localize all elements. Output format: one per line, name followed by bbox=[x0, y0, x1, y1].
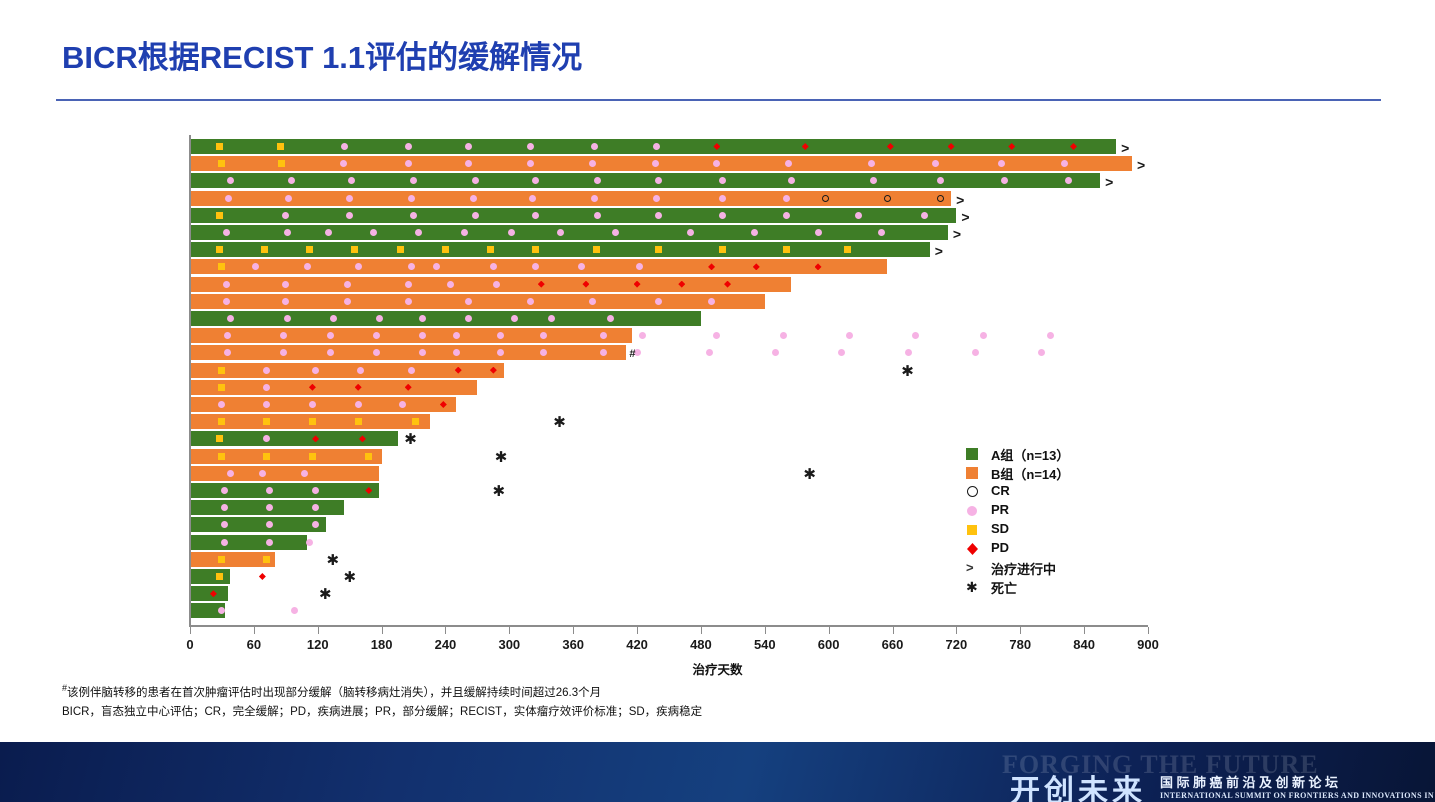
death-icon: ✱ bbox=[803, 467, 816, 482]
swimmer-bar bbox=[190, 328, 632, 343]
marker-sd-icon bbox=[218, 263, 225, 270]
x-axis-tick-label: 720 bbox=[946, 637, 968, 652]
ongoing-treatment-icon: > bbox=[956, 193, 964, 207]
marker-sd-icon bbox=[442, 246, 449, 253]
marker-sd-icon bbox=[216, 246, 223, 253]
marker-sd-icon bbox=[218, 556, 225, 563]
marker-sd-icon bbox=[218, 384, 225, 391]
marker-pr-icon bbox=[325, 229, 332, 236]
marker-pr-icon bbox=[708, 298, 715, 305]
marker-pr-icon bbox=[408, 195, 415, 202]
marker-pr-icon bbox=[291, 607, 298, 614]
x-axis-tick bbox=[318, 627, 319, 634]
swimmer-bar bbox=[190, 311, 701, 326]
x-axis-tick-label: 60 bbox=[247, 637, 261, 652]
swimmer-bar bbox=[190, 380, 477, 395]
marker-pr-icon bbox=[713, 332, 720, 339]
marker-sd-icon bbox=[216, 212, 223, 219]
marker-pr-icon bbox=[972, 349, 979, 356]
banner-subtitle-cn: 国际肺癌前沿及创新论坛 bbox=[1160, 772, 1342, 791]
marker-sd-icon bbox=[263, 453, 270, 460]
marker-pr-icon bbox=[405, 160, 412, 167]
death-icon: ✱ bbox=[493, 484, 506, 499]
marker-sd-icon bbox=[309, 418, 316, 425]
ongoing-treatment-icon: > bbox=[953, 227, 961, 241]
swimmer-bar bbox=[190, 483, 379, 498]
marker-pr-icon bbox=[589, 298, 596, 305]
marker-pr-icon bbox=[419, 315, 426, 322]
marker-pr-icon bbox=[980, 332, 987, 339]
marker-pr-icon bbox=[221, 521, 228, 528]
marker-cr-icon bbox=[937, 195, 944, 202]
swimmer-bar bbox=[190, 208, 956, 223]
marker-pr-icon bbox=[655, 212, 662, 219]
swimmer-bar bbox=[190, 466, 379, 481]
marker-sd-icon bbox=[216, 435, 223, 442]
swimmer-bar bbox=[190, 294, 765, 309]
x-axis-tick-label: 0 bbox=[186, 637, 193, 652]
marker-pr-icon bbox=[304, 263, 311, 270]
marker-pr-icon bbox=[639, 332, 646, 339]
x-axis-tick bbox=[1020, 627, 1021, 634]
swimmer-bar bbox=[190, 277, 791, 292]
swimmer-bar bbox=[190, 242, 930, 257]
marker-pr-icon bbox=[357, 367, 364, 374]
swimmer-bar bbox=[190, 191, 951, 206]
x-axis-tick bbox=[893, 627, 894, 634]
marker-sd-icon bbox=[844, 246, 851, 253]
death-icon: ✱ bbox=[327, 553, 340, 568]
marker-pr-icon bbox=[783, 195, 790, 202]
marker-sd-icon bbox=[351, 246, 358, 253]
marker-pr-icon bbox=[453, 349, 460, 356]
banner-cn-title: 开创未来 bbox=[1010, 766, 1146, 802]
x-axis-tick-label: 240 bbox=[435, 637, 457, 652]
marker-pr-icon bbox=[527, 298, 534, 305]
x-axis-tick bbox=[254, 627, 255, 634]
marker-pd-icon bbox=[259, 573, 266, 580]
marker-pr-icon bbox=[772, 349, 779, 356]
marker-pr-icon bbox=[447, 281, 454, 288]
marker-sd-icon bbox=[355, 418, 362, 425]
marker-pr-icon bbox=[855, 212, 862, 219]
swimmer-bar bbox=[190, 225, 948, 240]
legend-marker-death-icon: ✱ bbox=[963, 577, 989, 596]
x-axis-tick bbox=[956, 627, 957, 634]
marker-pr-icon bbox=[259, 470, 266, 477]
marker-pr-icon bbox=[312, 367, 319, 374]
x-axis-tick-label: 360 bbox=[562, 637, 584, 652]
marker-sd-icon bbox=[218, 453, 225, 460]
marker-sd-icon bbox=[783, 246, 790, 253]
legend-marker-sd-icon bbox=[963, 520, 989, 539]
marker-pr-icon bbox=[346, 195, 353, 202]
ongoing-treatment-icon: > bbox=[961, 210, 969, 224]
x-axis-tick-label: 480 bbox=[690, 637, 712, 652]
marker-pr-icon bbox=[905, 349, 912, 356]
marker-pr-icon bbox=[589, 160, 596, 167]
x-axis-tick bbox=[701, 627, 702, 634]
marker-pr-icon bbox=[846, 332, 853, 339]
swimmer-bar bbox=[190, 173, 1100, 188]
death-icon: ✱ bbox=[495, 450, 508, 465]
marker-pr-icon bbox=[223, 281, 230, 288]
x-axis-tick-label: 600 bbox=[818, 637, 840, 652]
legend-swatch-group-a-icon bbox=[963, 444, 989, 463]
marker-sd-icon bbox=[309, 453, 316, 460]
marker-cr-icon bbox=[822, 195, 829, 202]
marker-sd-icon bbox=[263, 418, 270, 425]
ongoing-treatment-icon: > bbox=[1137, 158, 1145, 172]
marker-pr-icon bbox=[224, 332, 231, 339]
x-axis-tick bbox=[829, 627, 830, 634]
death-icon: ✱ bbox=[553, 415, 566, 430]
marker-pr-icon bbox=[868, 160, 875, 167]
marker-pr-icon bbox=[1047, 332, 1054, 339]
marker-pr-icon bbox=[653, 195, 660, 202]
x-axis-line bbox=[190, 625, 1148, 628]
bottom-banner: FORGING THE FUTURE 开创未来 国际肺癌前沿及创新论坛 INTE… bbox=[0, 742, 1435, 802]
marker-pr-icon bbox=[815, 229, 822, 236]
bar-footnote-marker: # bbox=[629, 349, 635, 360]
marker-pr-icon bbox=[355, 401, 362, 408]
marker-pr-icon bbox=[785, 160, 792, 167]
marker-sd-icon bbox=[277, 143, 284, 150]
footnote-line-2: BICR，盲态独立中心评估；CR，完全缓解；PD，疾病进展；PR，部分缓解；RE… bbox=[62, 703, 702, 719]
legend-marker-pd-icon bbox=[963, 539, 989, 558]
legend-label: PR bbox=[991, 502, 1009, 517]
legend-label: 死亡 bbox=[991, 578, 1017, 597]
marker-sd-icon bbox=[218, 160, 225, 167]
x-axis-title: 治疗天数 bbox=[0, 659, 1435, 678]
x-axis-tick-label: 840 bbox=[1073, 637, 1095, 652]
marker-pr-icon bbox=[225, 195, 232, 202]
marker-sd-icon bbox=[719, 246, 726, 253]
y-axis-spine bbox=[189, 135, 191, 627]
marker-sd-icon bbox=[655, 246, 662, 253]
x-axis-tick-label: 540 bbox=[754, 637, 776, 652]
marker-pr-icon bbox=[719, 212, 726, 219]
ongoing-treatment-icon: > bbox=[1105, 175, 1113, 189]
marker-pr-icon bbox=[557, 229, 564, 236]
marker-sd-icon bbox=[216, 143, 223, 150]
ongoing-treatment-icon: > bbox=[1121, 141, 1129, 155]
marker-sd-icon bbox=[487, 246, 494, 253]
marker-pr-icon bbox=[1038, 349, 1045, 356]
slide-root: BICR根据RECIST 1.1评估的缓解情况 >>>>>>>#✱✱✱✱✱✱✱✱… bbox=[0, 0, 1435, 802]
x-axis-tick-label: 300 bbox=[498, 637, 520, 652]
marker-pr-icon bbox=[405, 281, 412, 288]
marker-sd-icon bbox=[278, 160, 285, 167]
marker-pr-icon bbox=[223, 229, 230, 236]
marker-pr-icon bbox=[410, 212, 417, 219]
marker-pr-icon bbox=[912, 332, 919, 339]
death-icon: ✱ bbox=[404, 432, 417, 447]
death-icon: ✱ bbox=[344, 570, 357, 585]
marker-pr-icon bbox=[998, 160, 1005, 167]
marker-pr-icon bbox=[227, 470, 234, 477]
legend-label: A组（n=13） bbox=[991, 445, 1069, 464]
legend-marker-ongoing-icon: > bbox=[963, 558, 989, 577]
marker-pr-icon bbox=[600, 332, 607, 339]
footnote-line-1: #该例伴脑转移的患者在首次肿瘤评估时出现部分缓解（脑转移病灶消失），并且缓解持续… bbox=[62, 683, 601, 700]
x-axis-tick bbox=[1084, 627, 1085, 634]
marker-pr-icon bbox=[493, 281, 500, 288]
marker-pr-icon bbox=[838, 349, 845, 356]
marker-pr-icon bbox=[706, 349, 713, 356]
marker-pr-icon bbox=[288, 177, 295, 184]
x-axis-tick-label: 780 bbox=[1009, 637, 1031, 652]
swimmer-bar bbox=[190, 586, 228, 601]
x-axis-tick-label: 900 bbox=[1137, 637, 1159, 652]
footnote-line-1-text: 该例伴脑转移的患者在首次肿瘤评估时出现部分缓解（脑转移病灶消失），并且缓解持续时… bbox=[67, 687, 601, 699]
marker-sd-icon bbox=[261, 246, 268, 253]
x-axis-tick-label: 120 bbox=[307, 637, 329, 652]
marker-pr-icon bbox=[687, 229, 694, 236]
marker-pr-icon bbox=[221, 504, 228, 511]
marker-pr-icon bbox=[529, 195, 536, 202]
x-axis-tick-label: 420 bbox=[626, 637, 648, 652]
marker-pr-icon bbox=[783, 212, 790, 219]
marker-sd-icon bbox=[397, 246, 404, 253]
marker-sd-icon bbox=[532, 246, 539, 253]
marker-pr-icon bbox=[306, 539, 313, 546]
marker-pr-icon bbox=[221, 539, 228, 546]
marker-pr-icon bbox=[223, 298, 230, 305]
marker-pr-icon bbox=[600, 349, 607, 356]
marker-pr-icon bbox=[340, 160, 347, 167]
marker-pr-icon bbox=[607, 315, 614, 322]
marker-pr-icon bbox=[408, 367, 415, 374]
marker-pr-icon bbox=[405, 298, 412, 305]
x-axis-tick bbox=[1148, 627, 1149, 634]
marker-pr-icon bbox=[405, 143, 412, 150]
marker-sd-icon bbox=[365, 453, 372, 460]
x-axis-tick bbox=[445, 627, 446, 634]
marker-pr-icon bbox=[419, 349, 426, 356]
marker-pr-icon bbox=[932, 160, 939, 167]
x-axis-tick-label: 660 bbox=[882, 637, 904, 652]
marker-pr-icon bbox=[376, 315, 383, 322]
marker-pr-icon bbox=[263, 384, 270, 391]
marker-pr-icon bbox=[419, 332, 426, 339]
swimmer-bar bbox=[190, 535, 307, 550]
marker-pr-icon bbox=[655, 298, 662, 305]
marker-sd-icon bbox=[218, 367, 225, 374]
death-icon: ✱ bbox=[901, 364, 914, 379]
death-icon: ✱ bbox=[319, 587, 332, 602]
swimmer-bar bbox=[190, 569, 230, 584]
marker-pr-icon bbox=[591, 143, 598, 150]
legend-marker-pr-icon bbox=[963, 501, 989, 520]
banner-subtitle-en: INTERNATIONAL SUMMIT ON FRONTIERS AND IN… bbox=[1160, 791, 1435, 800]
swimmer-bar bbox=[190, 345, 626, 360]
marker-sd-icon bbox=[216, 573, 223, 580]
legend-label: B组（n=14） bbox=[991, 464, 1069, 483]
marker-pr-icon bbox=[373, 332, 380, 339]
marker-pr-icon bbox=[370, 229, 377, 236]
marker-sd-icon bbox=[412, 418, 419, 425]
marker-pr-icon bbox=[282, 281, 289, 288]
x-axis-tick bbox=[190, 627, 191, 634]
x-axis-tick-label: 180 bbox=[371, 637, 393, 652]
marker-pr-icon bbox=[780, 332, 787, 339]
marker-pr-icon bbox=[344, 281, 351, 288]
marker-sd-icon bbox=[306, 246, 313, 253]
x-axis-tick bbox=[509, 627, 510, 634]
marker-pr-icon bbox=[341, 143, 348, 150]
legend-label: SD bbox=[991, 521, 1009, 536]
marker-pr-icon bbox=[227, 315, 234, 322]
marker-pr-icon bbox=[470, 195, 477, 202]
marker-pr-icon bbox=[591, 195, 598, 202]
legend-swatch-group-b-icon bbox=[963, 463, 989, 482]
marker-pr-icon bbox=[346, 212, 353, 219]
ongoing-treatment-icon: > bbox=[935, 244, 943, 258]
marker-pr-icon bbox=[719, 195, 726, 202]
legend-marker-cr-icon bbox=[963, 482, 989, 501]
marker-pr-icon bbox=[508, 229, 515, 236]
marker-pr-icon bbox=[344, 298, 351, 305]
swimmer-bar bbox=[190, 397, 456, 412]
marker-pr-icon bbox=[309, 401, 316, 408]
marker-pr-icon bbox=[472, 212, 479, 219]
marker-sd-icon bbox=[263, 556, 270, 563]
x-axis-tick bbox=[382, 627, 383, 634]
marker-pr-icon bbox=[652, 160, 659, 167]
marker-pr-icon bbox=[921, 212, 928, 219]
x-axis-tick bbox=[765, 627, 766, 634]
legend-label: 治疗进行中 bbox=[991, 559, 1056, 578]
legend-label: CR bbox=[991, 483, 1010, 498]
swimmer-plot: >>>>>>>#✱✱✱✱✱✱✱✱✱06012018024030036042048… bbox=[0, 0, 1435, 802]
marker-sd-icon bbox=[218, 418, 225, 425]
marker-pr-icon bbox=[453, 332, 460, 339]
marker-pr-icon bbox=[751, 229, 758, 236]
swimmer-bar bbox=[190, 517, 326, 532]
marker-cr-icon bbox=[884, 195, 891, 202]
marker-pr-icon bbox=[594, 212, 601, 219]
legend-label: PD bbox=[991, 540, 1009, 555]
swimmer-bar bbox=[190, 156, 1132, 171]
marker-sd-icon bbox=[593, 246, 600, 253]
x-axis-tick bbox=[637, 627, 638, 634]
x-axis-tick bbox=[573, 627, 574, 634]
marker-pr-icon bbox=[263, 367, 270, 374]
marker-pr-icon bbox=[221, 487, 228, 494]
marker-pr-icon bbox=[266, 539, 273, 546]
marker-pr-icon bbox=[653, 143, 660, 150]
